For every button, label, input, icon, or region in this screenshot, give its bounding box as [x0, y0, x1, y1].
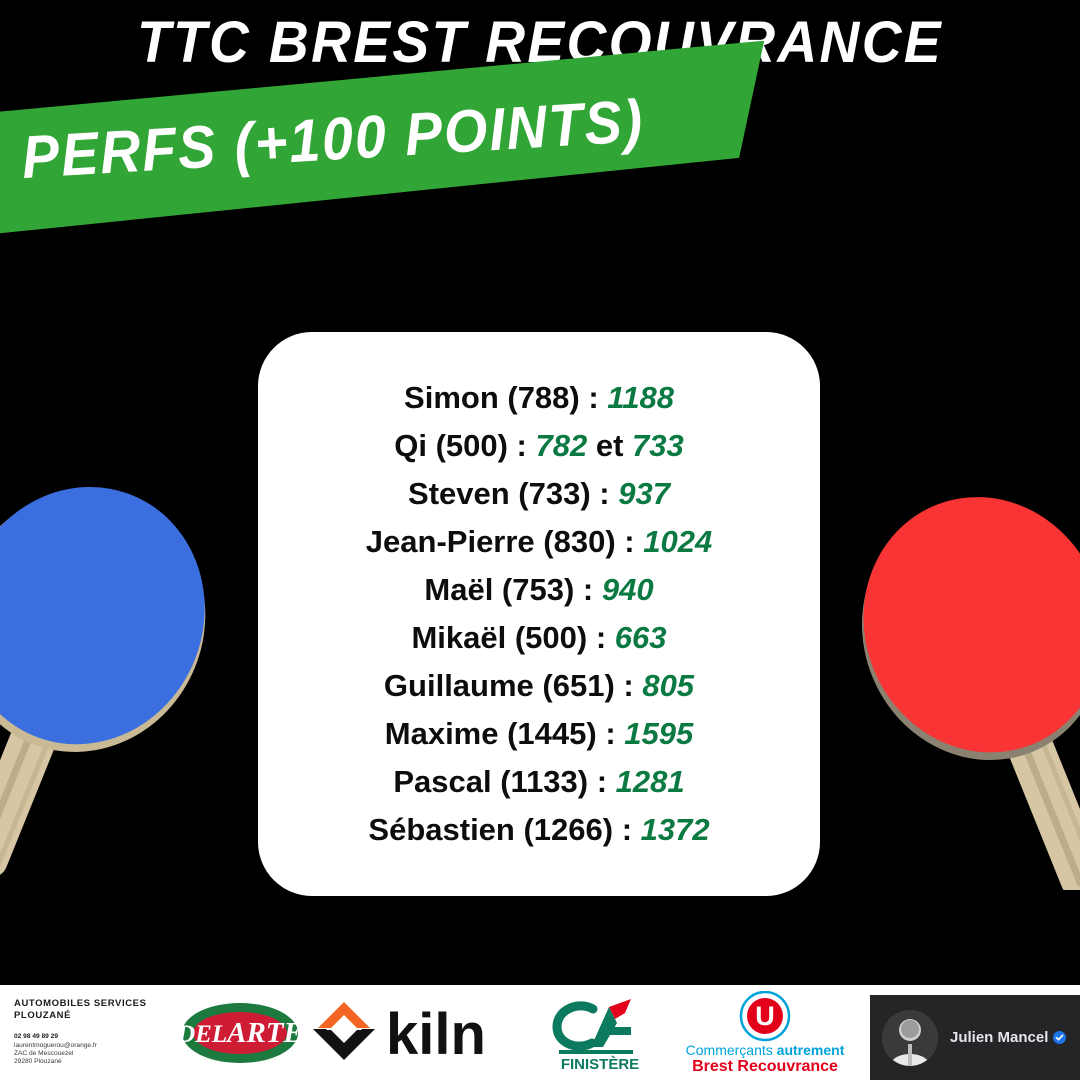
sponsor-superu-line1: Commerçants autrement	[686, 1042, 845, 1058]
result-player-label: Mikaël (500) :	[411, 620, 614, 655]
sponsor-delarte-wordmark: DELARTE	[181, 1017, 299, 1049]
result-row: Sébastien (1266) : 1372	[258, 806, 820, 854]
sponsor-superu-line2: Brest Recouvrance	[692, 1058, 838, 1075]
avatar	[882, 1010, 938, 1066]
result-points: 782	[536, 428, 588, 463]
result-player-label: Simon (788) :	[404, 380, 607, 415]
sponsor-credit-agricole-finistere-logo: FINISTÈRE	[535, 985, 665, 1080]
result-player-label: Pascal (1133) :	[393, 764, 615, 799]
sponsor-del-arte-logo: DELARTE	[175, 985, 305, 1080]
results-list: Simon (788) : 1188Qi (500) : 782 et 733S…	[258, 374, 820, 854]
result-points-secondary: 733	[632, 428, 684, 463]
result-points: 1188	[607, 380, 674, 415]
result-row: Steven (733) : 937	[258, 470, 820, 518]
sponsor-automobiles-address2: 29280 Plouzané	[14, 1058, 97, 1066]
result-player-label: Sébastien (1266) :	[368, 812, 640, 847]
sponsor-automobiles-phone: 02 98 49 89 29	[14, 1033, 97, 1041]
result-player-label: Maxime (1445) :	[385, 716, 625, 751]
result-points: 937	[618, 476, 670, 511]
result-row: Jean-Pierre (830) : 1024	[258, 518, 820, 566]
result-player-label: Steven (733) :	[408, 476, 618, 511]
verified-badge-icon	[1053, 1031, 1066, 1044]
result-player-label: Maël (753) :	[424, 572, 601, 607]
result-row: Maël (753) : 940	[258, 566, 820, 614]
result-row: Guillaume (651) : 805	[258, 662, 820, 710]
result-row: Simon (788) : 1188	[258, 374, 820, 422]
result-row: Maxime (1445) : 1595	[258, 710, 820, 758]
watermark-panel: Julien Mancel	[870, 995, 1080, 1080]
table-tennis-paddle-blue-icon	[0, 462, 248, 882]
result-points: 663	[615, 620, 667, 655]
table-tennis-paddle-red-icon	[852, 470, 1080, 890]
sponsor-superu-letter: U	[755, 1001, 775, 1031]
result-row: Qi (500) : 782 et 733	[258, 422, 820, 470]
result-row: Mikaël (500) : 663	[258, 614, 820, 662]
section-banner: PERFS (+100 POINTS)	[0, 88, 770, 236]
result-points: 1372	[641, 812, 710, 847]
sponsor-kiln-wordmark: kiln	[386, 1002, 486, 1067]
sponsor-ca-caption: FINISTÈRE	[561, 1056, 639, 1073]
poster-canvas: TTC BREST RECOUVRANCE PERFS (+100 POINTS…	[0, 0, 1080, 1080]
result-points: 940	[602, 572, 654, 607]
sponsor-super-u-logo: U Commerçants autrement Brest Recouvranc…	[665, 985, 865, 1080]
sponsor-automobiles-services-plouzane: AUTOMOBILES SERVICES PLOUZANÉ 02 98 49 8…	[0, 985, 175, 1080]
result-player-label: Jean-Pierre (830) :	[366, 524, 643, 559]
result-points: 1595	[624, 716, 693, 751]
result-points: 1024	[643, 524, 712, 559]
result-points: 1281	[616, 764, 685, 799]
sponsor-automobiles-contact: 02 98 49 89 29 laurentmoguerou@orange.fr…	[14, 1033, 97, 1066]
watermark-name: Julien Mancel	[950, 1029, 1048, 1046]
sponsor-automobiles-address1: ZAC de Mescouezel	[14, 1050, 97, 1058]
sponsor-automobiles-email: laurentmoguerou@orange.fr	[14, 1042, 97, 1050]
result-points: 805	[642, 668, 694, 703]
results-card: Simon (788) : 1188Qi (500) : 782 et 733S…	[258, 332, 820, 896]
result-row: Pascal (1133) : 1281	[258, 758, 820, 806]
result-points-separator: et	[587, 428, 632, 463]
result-player-label: Guillaume (651) :	[384, 668, 642, 703]
sponsor-automobiles-line1: AUTOMOBILES SERVICES	[14, 998, 147, 1010]
result-player-label: Qi (500) :	[394, 428, 535, 463]
sponsor-kiln-logo: kiln	[305, 985, 535, 1080]
sponsor-automobiles-line2: PLOUZANÉ	[14, 1010, 71, 1022]
